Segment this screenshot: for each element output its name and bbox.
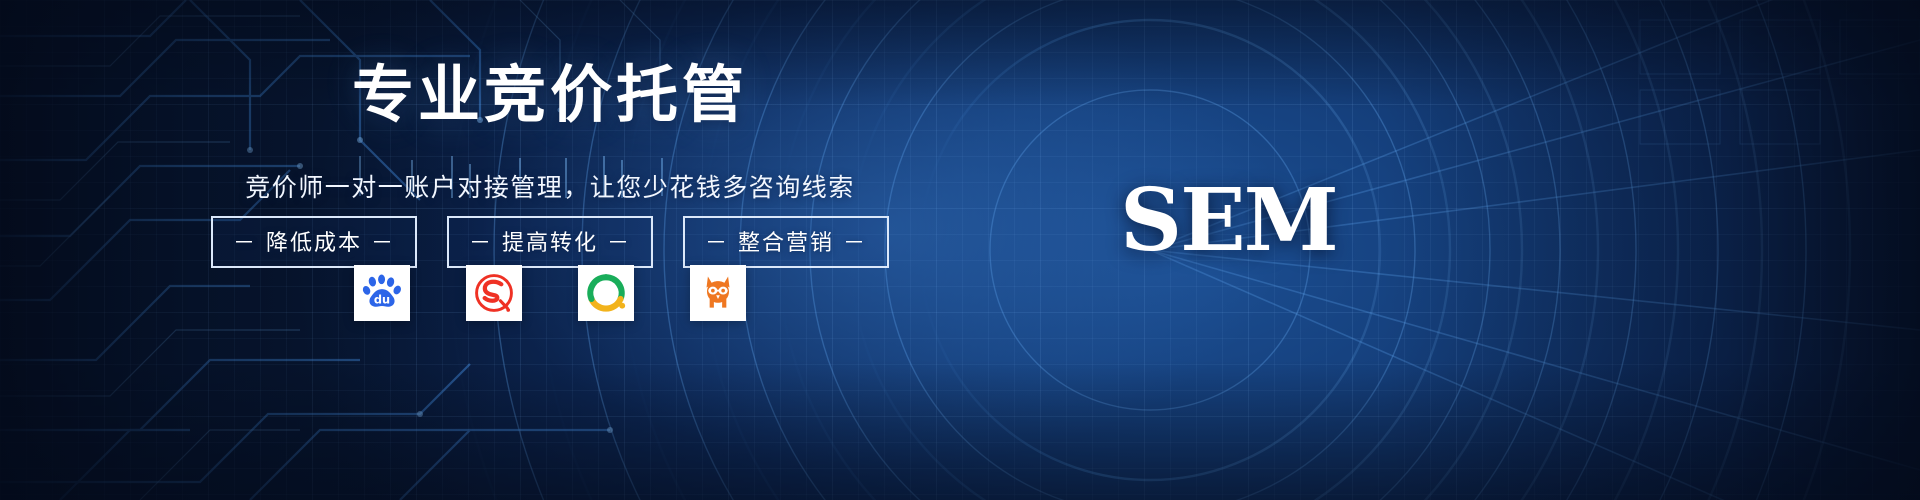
baidu-logo[interactable]: du — [354, 265, 410, 321]
banner-subtitle: 竞价师一对一账户对接管理，让您少花钱多咨询线索 — [0, 168, 1100, 204]
platform-logo-list: du — [0, 265, 1100, 321]
baidu-logo-label: du — [374, 293, 390, 307]
sogou-logo[interactable] — [466, 265, 522, 321]
sem-hosting-banner: 专业竞价托管 竞价师一对一账户对接管理，让您少花钱多咨询线索 － 降低成本 － … — [0, 0, 1920, 500]
shenma-logo[interactable] — [690, 265, 746, 321]
360-logo[interactable] — [578, 265, 634, 321]
feature-tag-improve-conversion[interactable]: － 提高转化 － — [447, 216, 653, 268]
feature-tag-list: － 降低成本 － － 提高转化 － － 整合营销 － — [0, 216, 1100, 268]
banner-title: 专业竞价托管 — [0, 62, 1100, 128]
feature-tag-integrated-marketing[interactable]: － 整合营销 － — [683, 216, 889, 268]
banner-content: 专业竞价托管 竞价师一对一账户对接管理，让您少花钱多咨询线索 － 降低成本 － … — [0, 0, 1100, 500]
sem-wordmark: SEM — [1120, 178, 1337, 264]
feature-tag-lower-cost[interactable]: － 降低成本 － — [211, 216, 417, 268]
